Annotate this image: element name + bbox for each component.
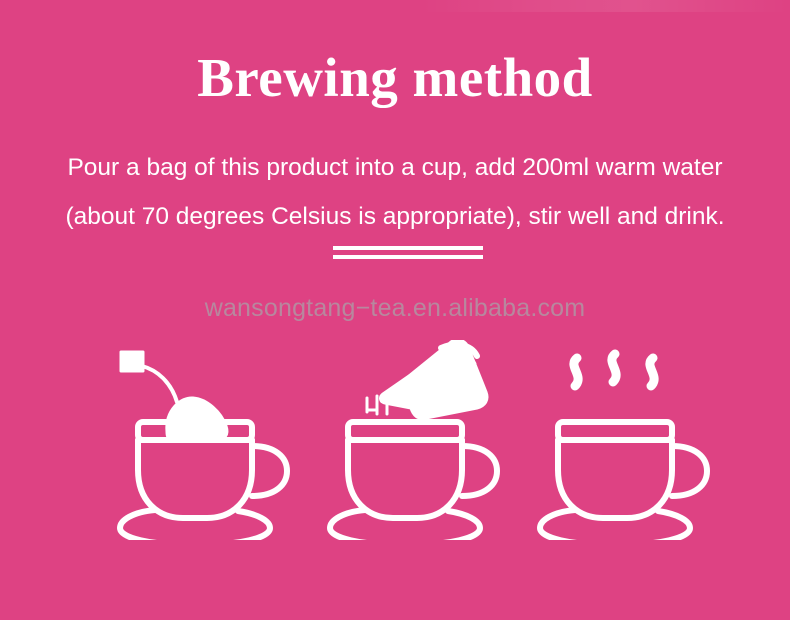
page-title: Brewing method bbox=[0, 47, 790, 109]
brewing-step-2 bbox=[305, 340, 505, 540]
top-edge-seam bbox=[420, 0, 790, 12]
divider-rule-bottom bbox=[333, 255, 483, 259]
brewing-method-banner: Brewing method Pour a bag of this produc… bbox=[0, 0, 790, 620]
steam-wisp-left bbox=[574, 358, 578, 386]
steam-wisp-center bbox=[612, 354, 616, 382]
instructions-text: Pour a bag of this product into a cup, a… bbox=[0, 143, 790, 241]
watermark: wansongtang−tea.en.alibaba.com bbox=[0, 293, 790, 323]
double-rule-divider bbox=[333, 246, 483, 259]
brewing-steps-row bbox=[0, 340, 790, 540]
teacup-with-teabag-icon bbox=[95, 340, 295, 540]
brewing-step-1 bbox=[95, 340, 295, 540]
instructions-line-2: (about 70 degrees Celsius is appropriate… bbox=[0, 192, 790, 241]
instructions-line-1: Pour a bag of this product into a cup, a… bbox=[0, 143, 790, 192]
steam-wisp-right bbox=[650, 358, 654, 386]
brewing-step-3 bbox=[515, 340, 715, 540]
divider-rule-top bbox=[333, 246, 483, 250]
pitcher-pouring-into-teacup-icon bbox=[305, 340, 505, 540]
steaming-teacup-icon bbox=[515, 340, 715, 540]
